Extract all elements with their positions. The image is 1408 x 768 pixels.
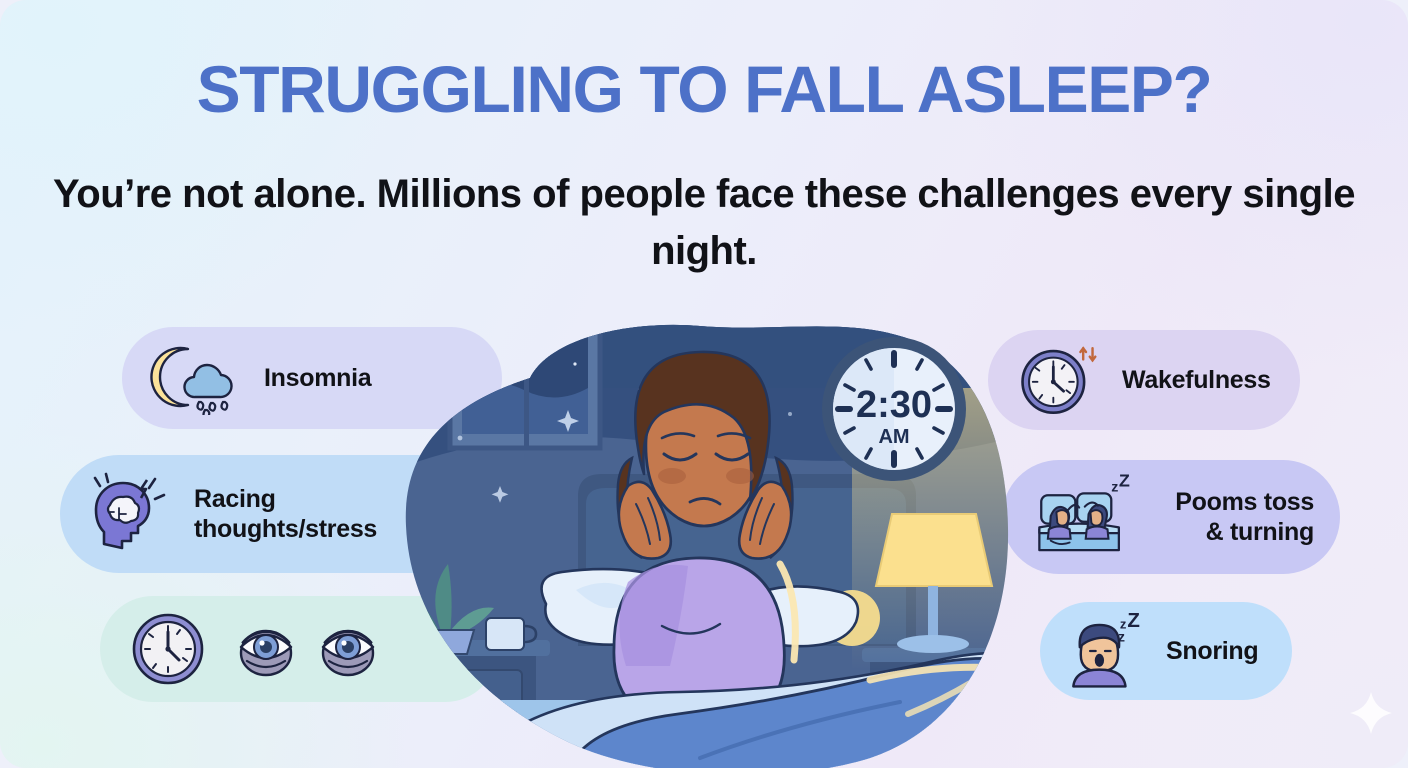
sparkle-icon	[1348, 690, 1394, 736]
head-brain-lightning-icon	[86, 472, 170, 556]
clock-230am: 2:30 AM	[818, 333, 970, 485]
pill-tossing-turning[interactable]: z Z Pooms toss & turning	[1002, 460, 1340, 574]
pill-label: Pooms toss & turning	[1152, 487, 1314, 547]
clock-arrows-icon	[1016, 339, 1100, 421]
svg-text:z: z	[1120, 617, 1127, 632]
pill-snoring[interactable]: z z Z Snoring	[1040, 602, 1292, 700]
couple-in-bed-zzz-icon: z Z	[1028, 474, 1134, 560]
page-title: STRUGGLING TO FALL ASLEEP?	[0, 55, 1408, 124]
tired-eye-icon	[314, 617, 382, 681]
pill-label: Insomnia	[264, 363, 371, 393]
moon-cloud-rain-icon	[148, 341, 240, 415]
pill-label: Wakefulness	[1122, 365, 1271, 395]
pill-wakefulness[interactable]: Wakefulness	[988, 330, 1300, 430]
infographic-canvas: STRUGGLING TO FALL ASLEEP? You’re not al…	[0, 0, 1408, 768]
svg-text:Z: Z	[1119, 474, 1130, 491]
svg-text:z: z	[1111, 479, 1118, 495]
clock-icon	[126, 609, 210, 689]
page-subtitle: You’re not alone. Millions of people fac…	[0, 166, 1408, 280]
snoring-head-zzz-icon: z z Z	[1064, 613, 1146, 689]
pill-label: Snoring	[1166, 636, 1258, 666]
clock-meridiem-text: AM	[878, 426, 909, 448]
pill-label: Racing thoughts/stress	[194, 484, 377, 544]
clock-time-text: 2:30	[856, 384, 932, 426]
tired-eye-icon	[232, 617, 300, 681]
svg-text:Z: Z	[1127, 613, 1140, 632]
